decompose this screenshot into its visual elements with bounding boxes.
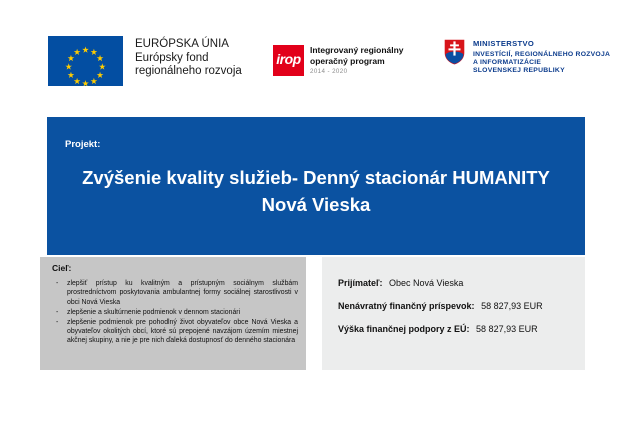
- goal-item-text: zlepšenie a skultúrnenie podmienok v den…: [67, 309, 240, 316]
- goal-title: Cieľ:: [52, 263, 71, 273]
- eu-flag-icon: [48, 36, 123, 86]
- beneficiary-label: Prijímateľ:: [338, 278, 382, 288]
- goal-list: -zlepšiť prístup ku kvalitným a prístupn…: [54, 279, 298, 346]
- goal-list-item: -zlepšenie podmienok pre pohodlný život …: [54, 318, 298, 346]
- irop-period: 2014 - 2020: [310, 67, 404, 76]
- eu-logo-block: EURÓPSKA ÚNIA Európsky fond regionálneho…: [48, 36, 242, 86]
- goal-list-item: -zlepšiť prístup ku kvalitným a prístupn…: [54, 279, 298, 307]
- goal-item-text: zlepšiť prístup ku kvalitným a prístupný…: [67, 280, 298, 306]
- slovak-coat-of-arms-icon: [443, 38, 466, 66]
- eu-title-line: EURÓPSKA ÚNIA: [135, 38, 242, 52]
- goal-item-text: zlepšenie podmienok pre pohodlný život o…: [67, 319, 298, 345]
- logo-strip: EURÓPSKA ÚNIA Európsky fond regionálneho…: [0, 0, 624, 108]
- funding-info-box: Prijímateľ: Obec Nová Vieska Nenávratný …: [322, 257, 585, 370]
- irop-program-line-1: Integrovaný regionálny: [310, 45, 404, 56]
- info-row: Výška finančnej podpory z EÚ: 58 827,93 …: [338, 324, 538, 334]
- goal-box: Cieľ: -zlepšiť prístup ku kvalitným a pr…: [40, 257, 306, 370]
- project-label: Projekt:: [65, 139, 100, 150]
- bullet-dash: -: [56, 308, 58, 317]
- ministry-line-2: INVESTÍCIÍ, REGIONÁLNEHO ROZVOJA: [473, 51, 610, 59]
- goal-list-item: -zlepšenie a skultúrnenie podmienok v de…: [54, 308, 298, 317]
- ministry-line-1: MINISTERSTVO: [473, 39, 610, 49]
- ministry-logo-block: MINISTERSTVO INVESTÍCIÍ, REGIONÁLNEHO RO…: [443, 38, 610, 76]
- eu-support-label: Výška finančnej podpory z EÚ:: [338, 324, 470, 334]
- bullet-dash: -: [56, 279, 58, 288]
- eu-subtitle-line-1: Európsky fond: [135, 52, 242, 66]
- irop-logo-block: irop Integrovaný regionálny operačný pro…: [273, 45, 404, 76]
- grant-label: Nenávratný finančný príspevok:: [338, 301, 475, 311]
- eu-logo-text: EURÓPSKA ÚNIA Európsky fond regionálneho…: [135, 36, 242, 79]
- project-banner: Projekt: Zvýšenie kvality služieb- Denný…: [47, 117, 585, 255]
- eu-support-value: 58 827,93 EUR: [476, 324, 538, 334]
- irop-logo-icon: irop: [273, 45, 304, 76]
- eu-subtitle-line-2: regionálneho rozvoja: [135, 65, 242, 79]
- ministry-logo-text: MINISTERSTVO INVESTÍCIÍ, REGIONÁLNEHO RO…: [473, 38, 610, 76]
- eu-stars-icon: [48, 36, 123, 86]
- irop-program-line-2: operačný program: [310, 56, 404, 67]
- ministry-line-3: A INFORMATIZÁCIE: [473, 59, 610, 67]
- project-title: Zvýšenie kvality služieb- Denný stacioná…: [65, 164, 567, 218]
- bullet-dash: -: [56, 318, 58, 327]
- irop-wordmark: irop: [273, 51, 304, 67]
- grant-value: 58 827,93 EUR: [481, 301, 543, 311]
- info-row: Nenávratný finančný príspevok: 58 827,93…: [338, 301, 543, 311]
- ministry-line-4: SLOVENSKEJ REPUBLIKY: [473, 67, 610, 75]
- beneficiary-value: Obec Nová Vieska: [389, 278, 463, 288]
- info-row: Prijímateľ: Obec Nová Vieska: [338, 278, 463, 288]
- irop-logo-text: Integrovaný regionálny operačný program …: [310, 45, 404, 76]
